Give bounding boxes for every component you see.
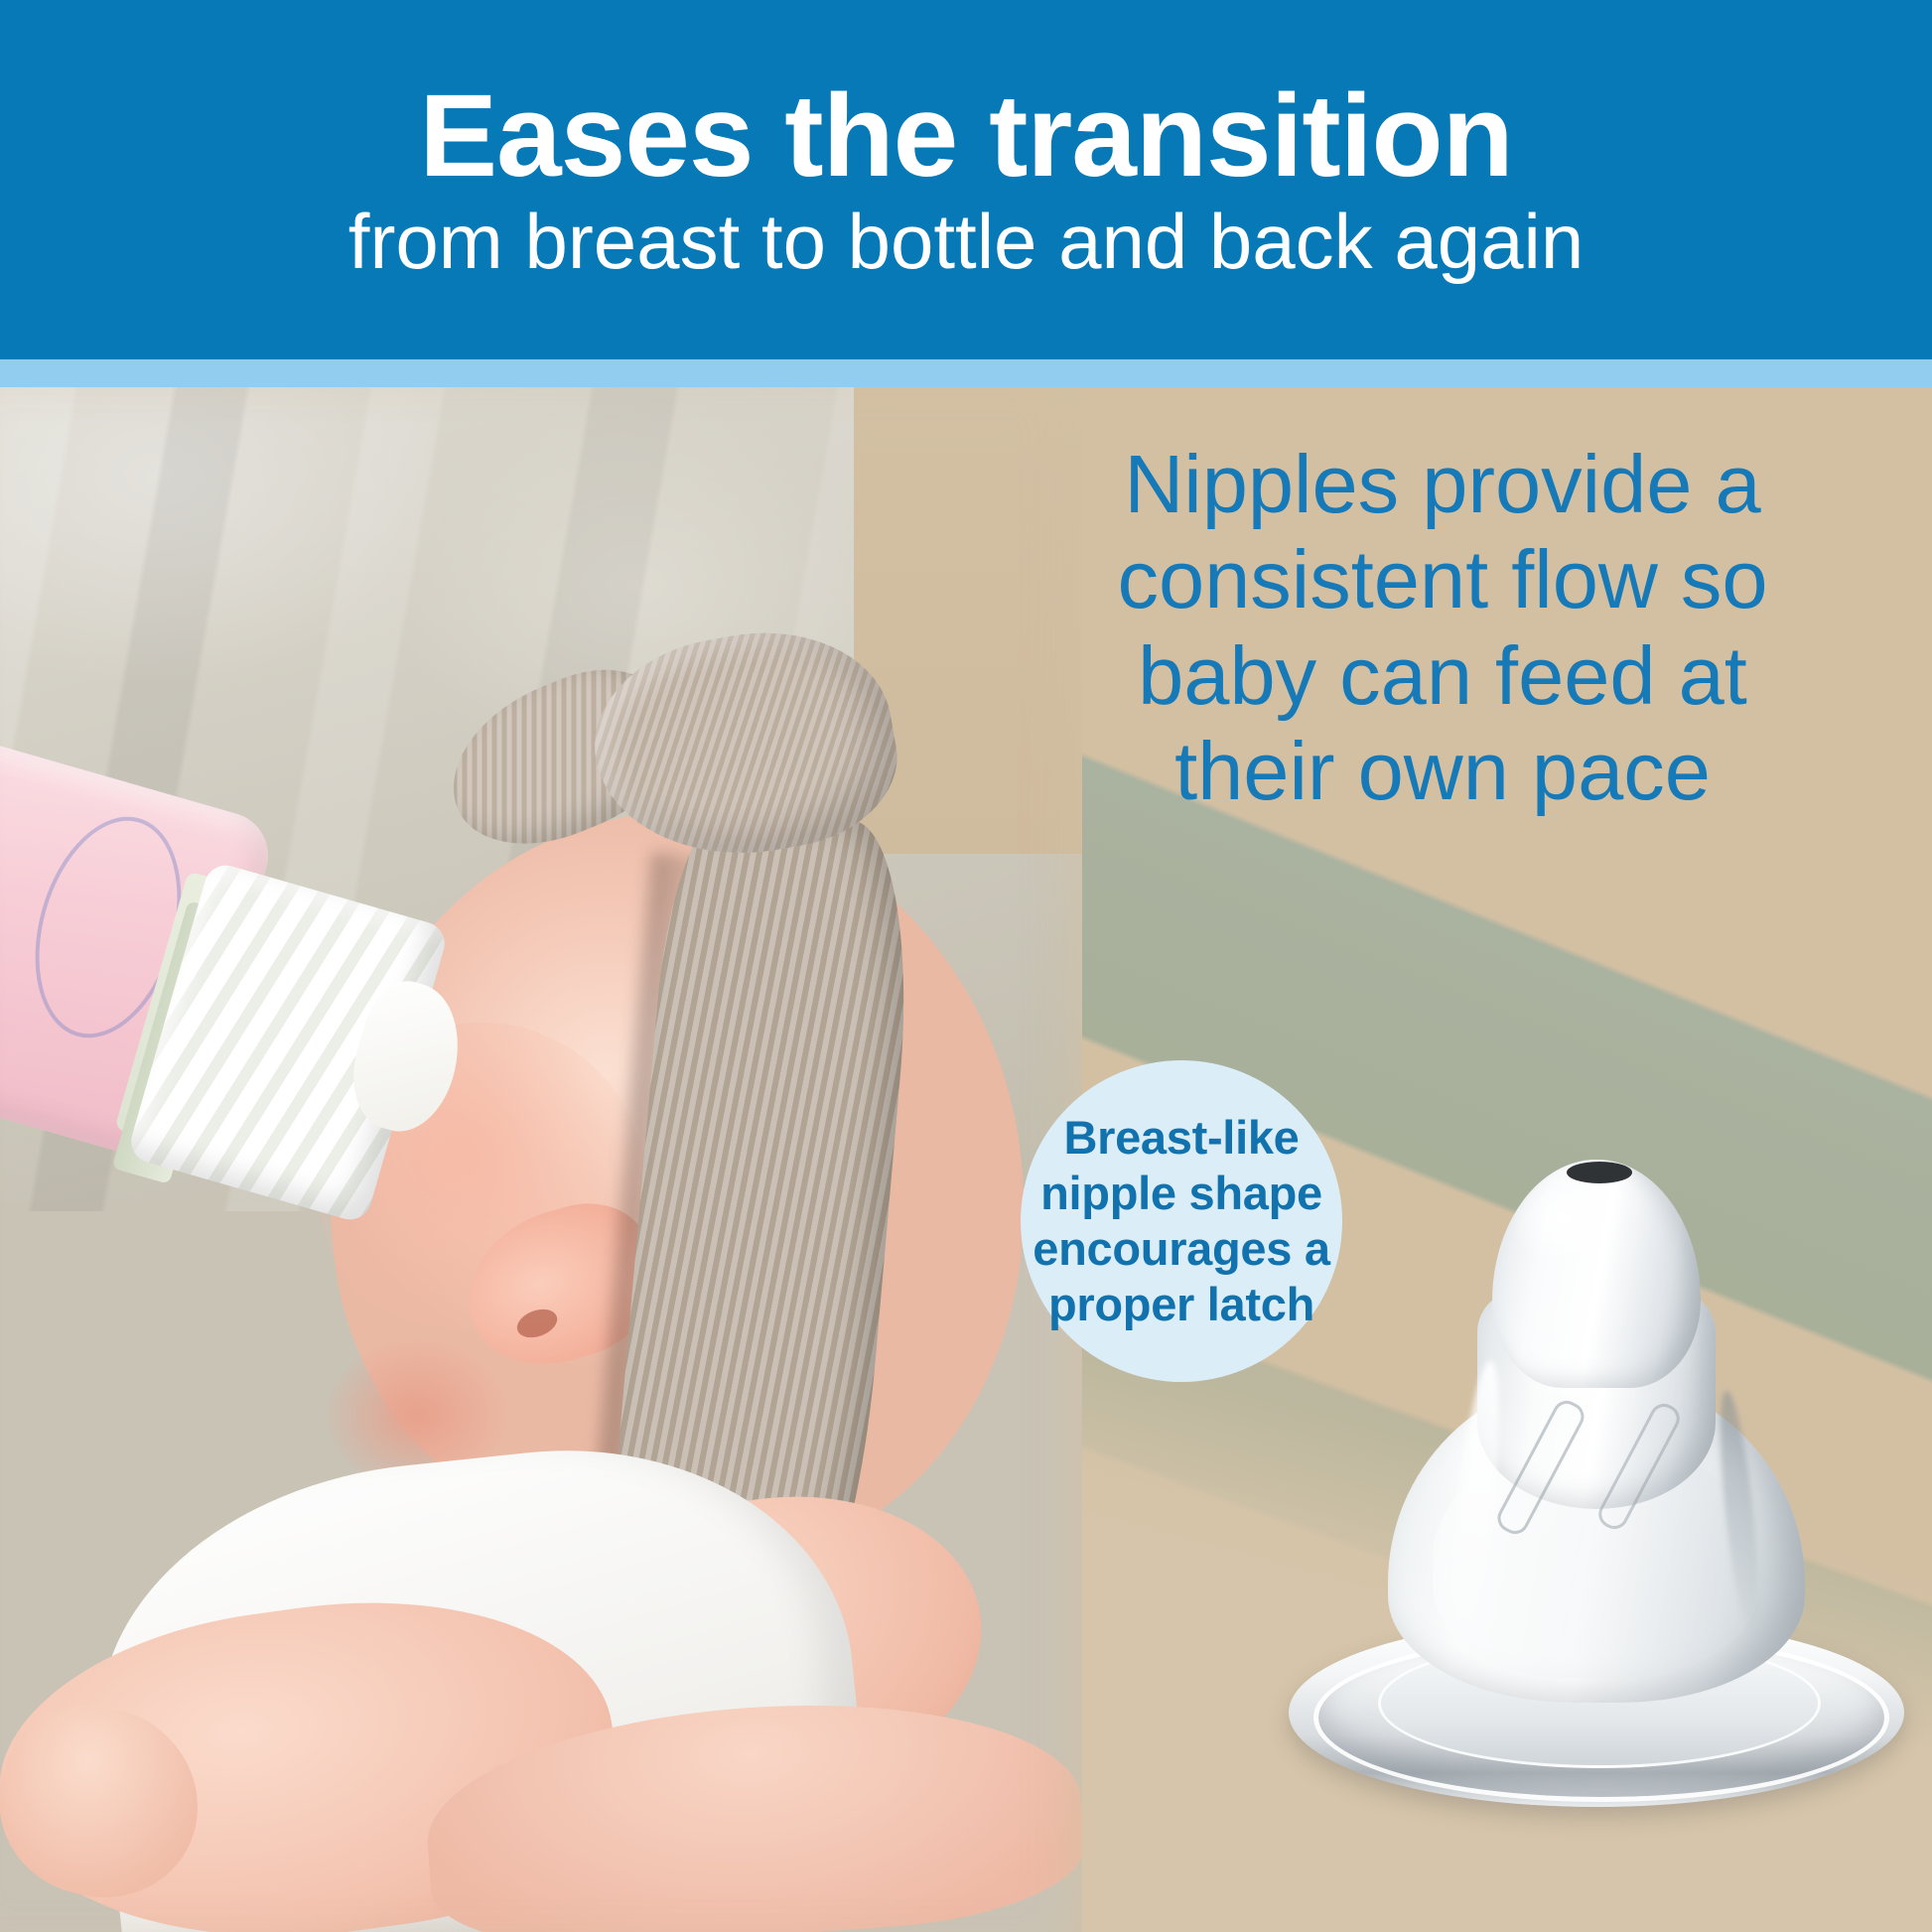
benefit-line-4: their own pace <box>993 724 1892 819</box>
feature-callout-badge: Breast-like nipple shape encourages a pr… <box>1021 1060 1342 1382</box>
banner-accent-stripe <box>0 359 1932 387</box>
nipple-feed-hole <box>1567 1162 1632 1183</box>
nipple-tip <box>1492 1160 1701 1388</box>
benefit-line-3: baby can feed at <box>993 628 1892 724</box>
product-marketing-image: Nipples provide a consistent flow so bab… <box>0 0 1932 1932</box>
header-banner: Eases the transition from breast to bott… <box>0 0 1932 359</box>
benefit-paragraph: Nipples provide a consistent flow so bab… <box>993 437 1892 819</box>
banner-subtitle: from breast to bottle and back again <box>348 202 1584 283</box>
banner-title: Eases the transition <box>419 76 1512 196</box>
badge-line-1: Breast-like <box>1033 1110 1329 1166</box>
badge-line-3: encourages a <box>1033 1221 1329 1277</box>
lifestyle-photo <box>0 387 1082 1932</box>
benefit-line-1: Nipples provide a <box>993 437 1892 532</box>
badge-line-4: proper latch <box>1033 1277 1329 1332</box>
benefit-line-2: consistent flow so <box>993 532 1892 627</box>
product-nipple-render <box>1259 1142 1932 1837</box>
badge-line-2: nipple shape <box>1033 1166 1329 1221</box>
feature-callout-text: Breast-like nipple shape encourages a pr… <box>1033 1110 1329 1332</box>
